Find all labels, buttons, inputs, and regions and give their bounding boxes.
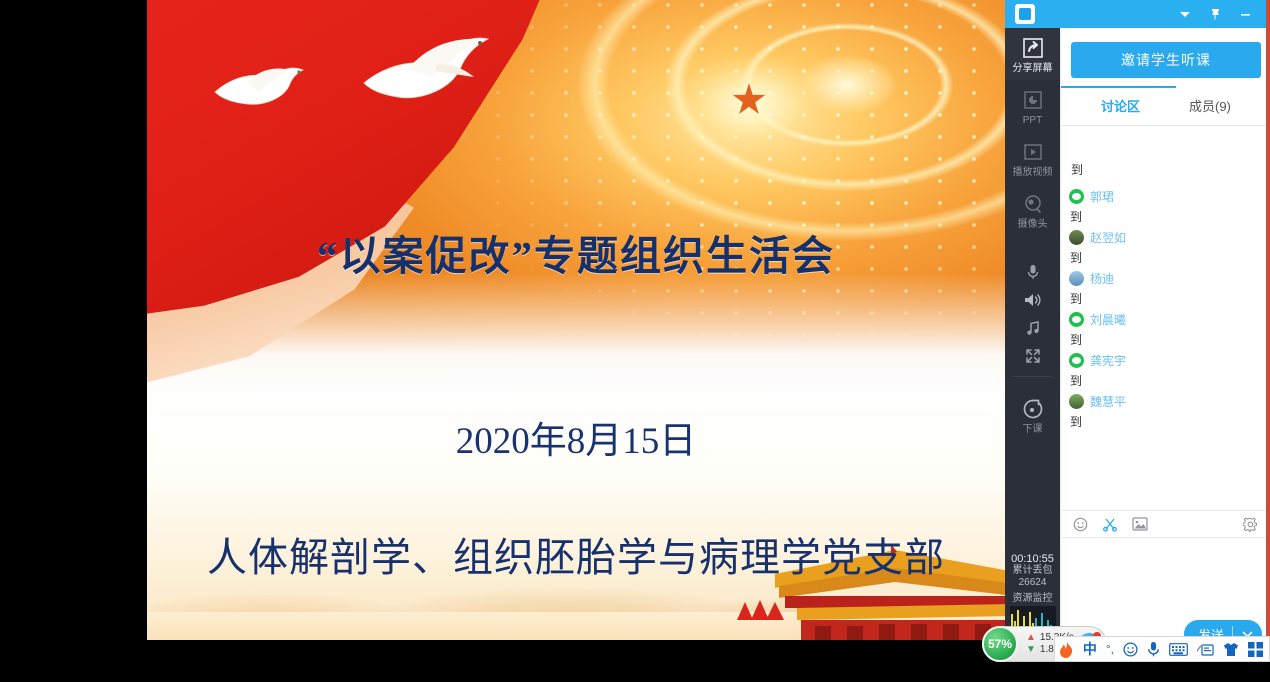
presentation-slide: “以案促改”专题组织生活会 2020年8月15日 人体解剖学、组织胚胎学与病理学… [147,0,1005,682]
sidebar-item-label: 摄像头 [1005,219,1060,231]
end-class-label: 下课 [1005,424,1060,436]
sidebar-item-share-screen[interactable]: 分享屏幕 [1005,28,1060,80]
chat-first-message: 到 [1071,161,1262,178]
taskbar: 57% ▲ 15.3K/s ▼ 1.8K/s + 中 °, [0,640,1270,682]
chevron-down-icon[interactable] [1170,0,1200,28]
ppt-icon [1005,87,1060,113]
chat-message: 郭珺 到 [1069,188,1262,225]
chat-message: 魏慧平 到 [1069,393,1262,430]
end-class-icon [1005,396,1060,422]
avatar [1069,394,1084,409]
chat-message-text: 到 [1070,331,1262,348]
voice-input-icon[interactable] [1147,641,1160,657]
app-logo-icon [1015,4,1035,24]
pin-icon[interactable] [1200,0,1230,28]
sogou-ime-toolbar[interactable]: 中 °, [1054,636,1270,662]
chat-message: 赵翌如 到 [1069,229,1262,266]
shared-screen-area[interactable]: “以案促改”专题组织生活会 2020年8月15日 人体解剖学、组织胚胎学与病理学… [147,0,1005,682]
composer-toolbar [1061,510,1270,538]
packet-loss-value: 26624 [1005,577,1060,589]
chat-message: 杨迪 到 [1069,270,1262,307]
avatar [1069,230,1084,245]
chat-input[interactable] [1061,539,1270,617]
chat-message-text: 到 [1070,372,1262,389]
handwriting-icon[interactable] [1197,642,1214,656]
fullscreen-icon[interactable] [1005,342,1060,370]
music-note-icon[interactable] [1005,314,1060,342]
skin-shirt-icon[interactable] [1223,642,1239,657]
speaker-icon[interactable] [1005,286,1060,314]
chat-message-list[interactable]: 到 郭珺 到 赵翌如 到 杨迪 到 [1061,153,1270,505]
download-arrow-icon: ▼ [1026,644,1036,656]
camera-icon [1005,191,1060,217]
chat-composer[interactable] [1061,539,1270,617]
soft-keyboard-icon[interactable] [1169,643,1188,656]
chat-sender-name: 魏慧平 [1090,393,1126,410]
slide-title: “以案促改”专题组织生活会 [147,222,1005,282]
emoji-icon[interactable] [1123,642,1138,657]
window-titlebar[interactable] [1005,0,1270,28]
settings-gear-icon[interactable] [1243,517,1258,532]
minimize-icon[interactable] [1230,0,1260,28]
chat-message: 刘晨曦 到 [1069,311,1262,348]
upload-arrow-icon: ▲ [1026,632,1036,644]
punctuation-icon[interactable]: °, [1106,642,1114,656]
sidebar-item-ppt[interactable]: PPT [1005,80,1060,132]
chat-message: 龚宪宇 到 [1069,352,1262,389]
tab-active-underline [1061,86,1176,88]
cpu-percent-badge[interactable]: 57% [982,626,1018,662]
screen-root: “以案促改”专题组织生活会 2020年8月15日 人体解剖学、组织胚胎学与病理学… [0,0,1270,682]
end-class-button[interactable]: 下课 [1005,389,1060,441]
chat-sender-name: 刘晨曦 [1090,311,1126,328]
dove-small-icon [207,58,317,114]
chat-message-text: 到 [1070,249,1262,266]
packet-loss-label: 累计丢包 [1005,565,1060,577]
chat-message-text: 到 [1070,413,1262,430]
avatar [1069,271,1084,286]
ime-mode-indicator[interactable]: 中 [1083,639,1097,659]
right-panel: 邀请学生听课 讨论区 成员(9) 到 郭珺 到 赵翌如 到 [1060,28,1270,682]
slide-subtitle: 人体解剖学、组织胚胎学与病理学党支部 [147,525,1005,583]
chat-message-text: 到 [1070,208,1262,225]
tool-sidebar: 分享屏幕 PPT 播放视频 [1005,28,1060,682]
tab-discussion[interactable]: 讨论区 [1101,96,1140,115]
chat-sender-name: 龚宪宇 [1090,352,1126,369]
tab-members[interactable]: 成员(9) [1189,96,1231,115]
sogou-flame-icon[interactable] [1059,641,1074,658]
dove-large-icon [352,25,512,117]
sidebar-divider [1013,376,1052,377]
avatar [1069,353,1084,368]
microphone-icon[interactable] [1005,258,1060,286]
classin-window: 分享屏幕 PPT 播放视频 [1005,0,1270,682]
slide-date: 2020年8月15日 [147,410,1005,464]
sidebar-item-play-video[interactable]: 播放视频 [1005,132,1060,184]
window-right-edge [1266,0,1270,648]
sidebar-item-label: PPT [1005,115,1060,127]
avatar [1069,189,1084,204]
chat-sender-name: 赵翌如 [1090,229,1126,246]
sidebar-item-label: 播放视频 [1005,167,1060,179]
sidebar-item-camera[interactable]: 摄像头 [1005,184,1060,236]
image-upload-icon[interactable] [1132,517,1148,531]
class-timer: 00:10:55 [1005,553,1060,565]
toolbox-grid-icon[interactable] [1248,642,1263,657]
invite-students-button[interactable]: 邀请学生听课 [1071,42,1261,78]
emoji-icon[interactable] [1073,517,1088,532]
resource-monitor-label[interactable]: 资源监控 [1005,589,1060,604]
sidebar-item-label: 分享屏幕 [1005,63,1060,75]
chat-sender-name: 杨迪 [1090,270,1114,287]
scissors-screenshot-icon[interactable] [1102,516,1118,532]
share-screen-icon [1005,35,1060,61]
avatar [1069,312,1084,327]
panel-tabs: 讨论区 成员(9) [1061,92,1270,126]
chat-sender-name: 郭珺 [1090,188,1114,205]
play-video-icon [1005,139,1060,165]
chat-message-text: 到 [1070,290,1262,307]
